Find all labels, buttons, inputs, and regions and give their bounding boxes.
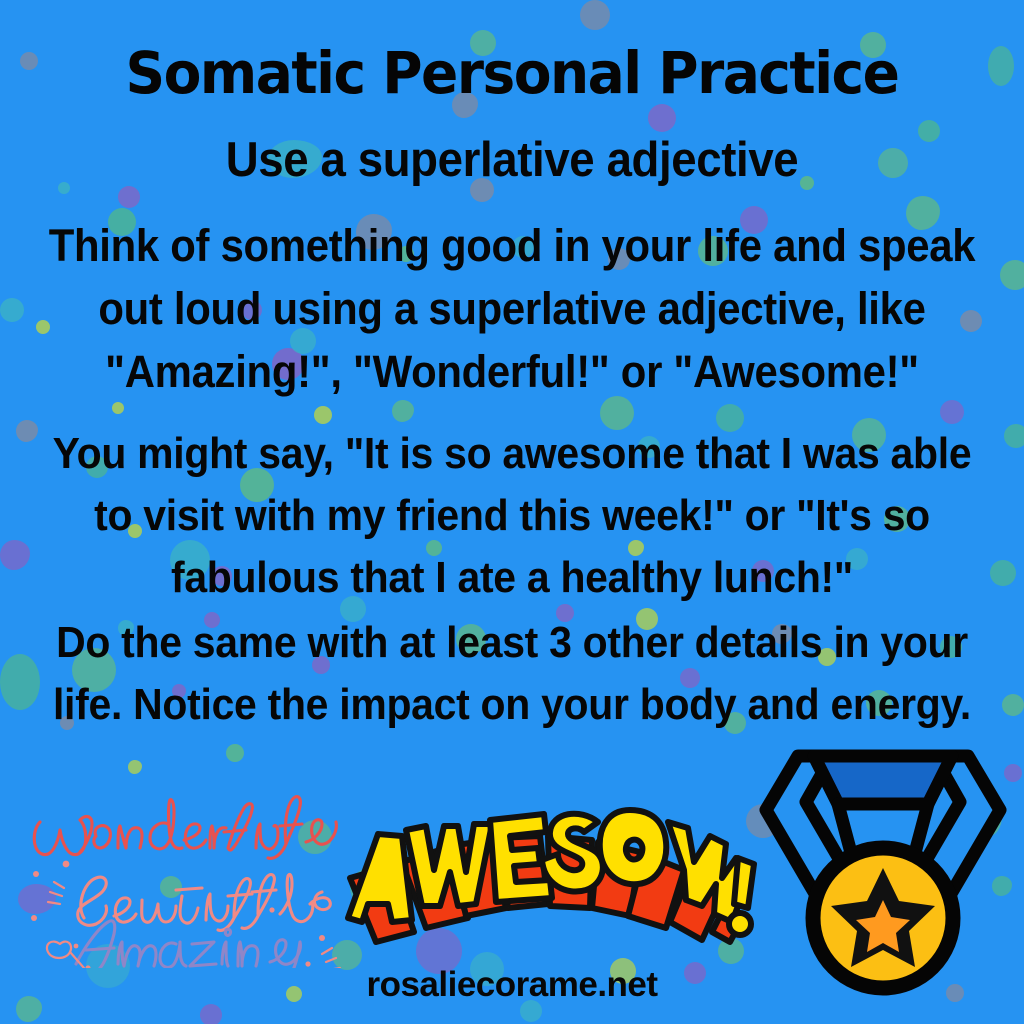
footer-url: rosaliecorame.net xyxy=(0,965,1024,1005)
paragraph-3: Do the same with at least 3 other detail… xyxy=(43,612,980,736)
paragraph-2: You might say, "It is so awesome that I … xyxy=(43,423,980,609)
poster-canvas: Somatic Personal Practice Use a superlat… xyxy=(0,0,1024,1024)
paragraph-1: Think of something good in your life and… xyxy=(43,214,980,403)
page-subtitle: Use a superlative adjective xyxy=(36,136,988,185)
page-title: Somatic Personal Practice xyxy=(0,44,1024,102)
